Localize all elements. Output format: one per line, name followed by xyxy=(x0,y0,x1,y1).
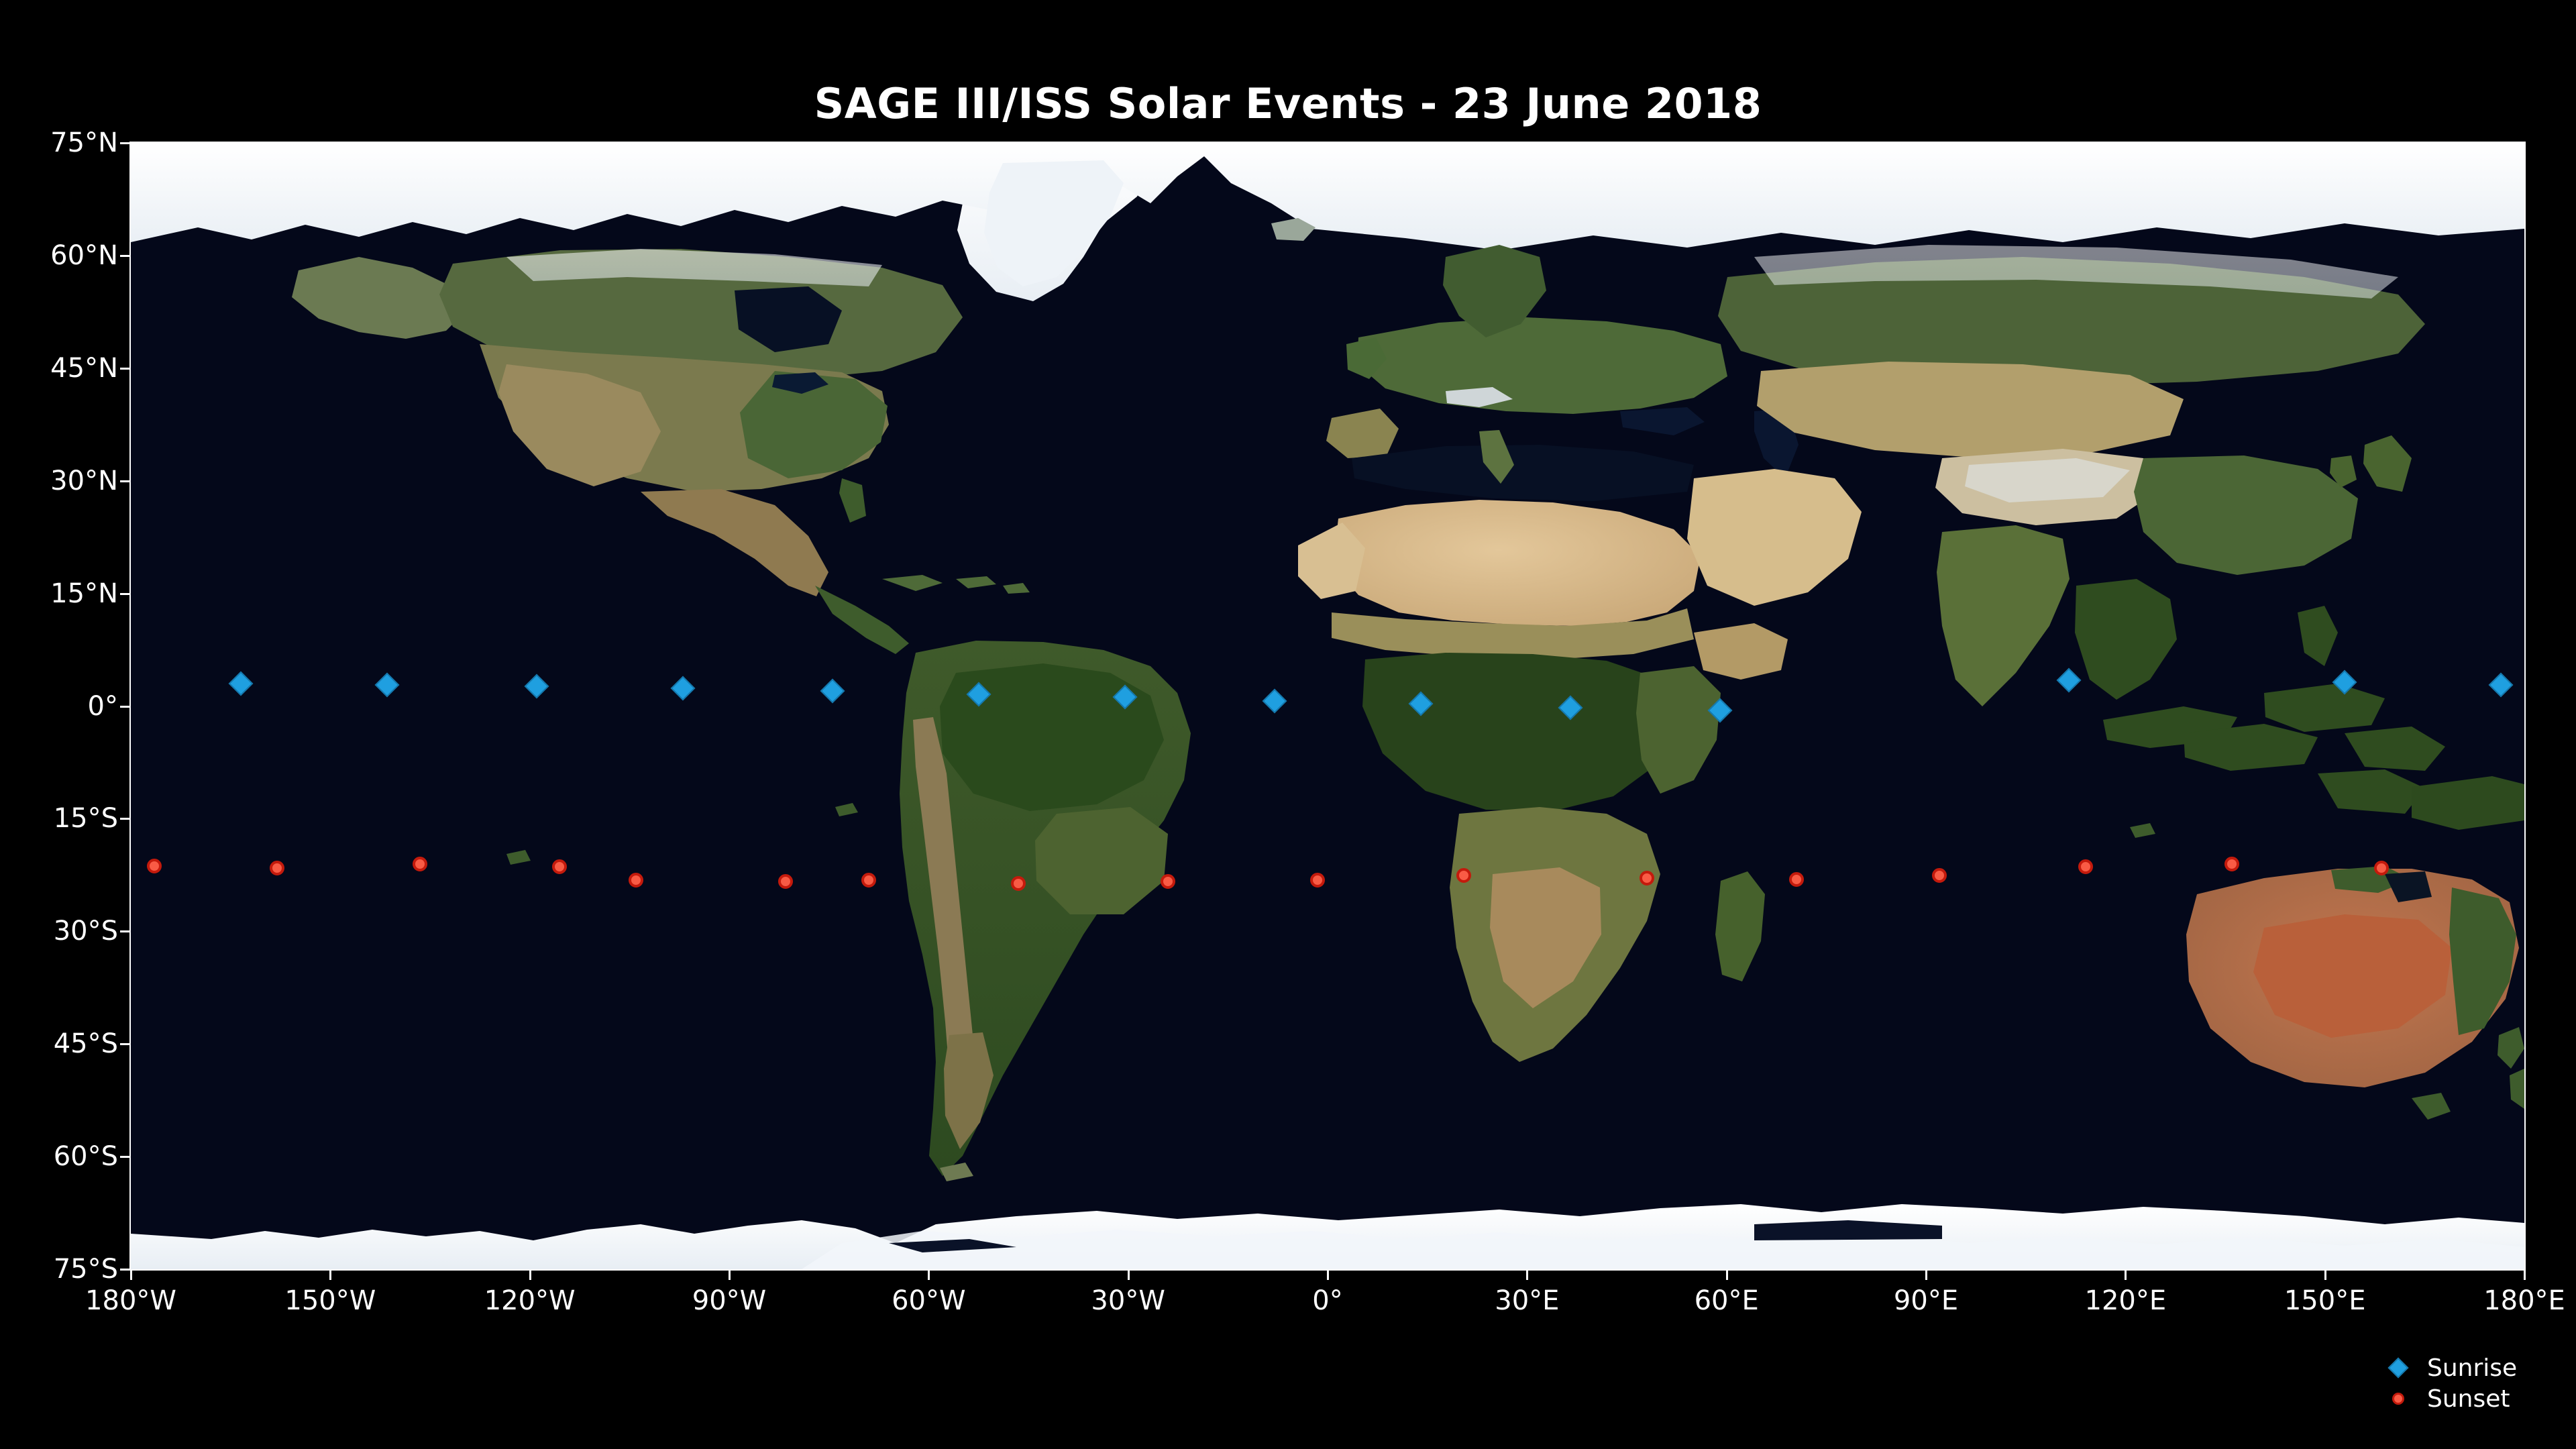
y-tick-label: 75°S xyxy=(54,1254,118,1285)
x-tick-label: 90°W xyxy=(692,1285,766,1316)
sunset-marker[interactable] xyxy=(1640,871,1654,885)
x-tick-mark xyxy=(130,1269,132,1280)
y-tick-mark xyxy=(120,480,131,482)
legend-label-sunrise: Sunrise xyxy=(2427,1354,2517,1382)
sunset-marker[interactable] xyxy=(1456,868,1471,883)
y-tick-mark xyxy=(120,1156,131,1158)
x-tick-label: 150°W xyxy=(284,1285,376,1316)
y-tick-label: 15°S xyxy=(54,803,118,834)
x-tick-mark xyxy=(729,1269,731,1280)
y-tick-label: 60°N xyxy=(50,240,118,271)
sunset-marker[interactable] xyxy=(552,859,567,874)
y-tick-label: 45°S xyxy=(54,1028,118,1059)
legend-label-sunset: Sunset xyxy=(2427,1385,2510,1413)
x-tick-mark xyxy=(1128,1269,1130,1280)
y-tick-label: 0° xyxy=(88,691,118,722)
x-tick-label: 60°W xyxy=(892,1285,965,1316)
x-tick-mark xyxy=(2125,1269,2127,1280)
y-tick-mark xyxy=(120,930,131,932)
page-title: SAGE III/ISS Solar Events - 23 June 2018 xyxy=(0,79,2576,128)
x-tick-label: 60°E xyxy=(1695,1285,1759,1316)
map-figure: SAGE III/ISS Solar Events - 23 June 2018 xyxy=(0,0,2576,1449)
sunset-marker[interactable] xyxy=(1011,876,1026,891)
legend-entry-sunrise: Sunrise xyxy=(2380,1352,2517,1383)
x-tick-label: 120°E xyxy=(2085,1285,2167,1316)
sunset-marker[interactable] xyxy=(2078,859,2093,874)
x-tick-mark xyxy=(529,1269,531,1280)
sunrise-diamond-icon xyxy=(2380,1360,2416,1375)
sunset-marker[interactable] xyxy=(861,873,876,888)
legend: Sunrise Sunset xyxy=(2380,1352,2517,1414)
x-tick-label: 150°E xyxy=(2284,1285,2366,1316)
sunset-marker[interactable] xyxy=(1932,868,1947,883)
x-tick-mark xyxy=(2324,1269,2326,1280)
x-tick-label: 30°W xyxy=(1091,1285,1165,1316)
sunset-marker[interactable] xyxy=(1310,873,1325,888)
x-tick-mark xyxy=(329,1269,331,1280)
x-tick-label: 180°E xyxy=(2483,1285,2565,1316)
y-tick-mark xyxy=(120,593,131,595)
sunset-marker[interactable] xyxy=(778,874,793,889)
sunset-marker[interactable] xyxy=(270,861,284,875)
world-basemap xyxy=(131,143,2524,1269)
y-tick-label: 75°N xyxy=(50,127,118,158)
y-tick-label: 60°S xyxy=(54,1141,118,1172)
x-tick-mark xyxy=(1526,1269,1528,1280)
y-tick-mark xyxy=(120,368,131,370)
y-tick-label: 15°N xyxy=(50,578,118,609)
sunset-marker[interactable] xyxy=(413,857,427,871)
y-tick-label: 30°N xyxy=(50,466,118,496)
sunset-marker[interactable] xyxy=(2374,861,2389,875)
y-tick-label: 45°N xyxy=(50,353,118,384)
x-tick-label: 0° xyxy=(1312,1285,1342,1316)
x-tick-mark xyxy=(1925,1269,1927,1280)
sunset-marker[interactable] xyxy=(629,873,643,888)
y-tick-mark xyxy=(120,706,131,708)
x-tick-mark xyxy=(1327,1269,1329,1280)
x-tick-mark xyxy=(928,1269,930,1280)
sunset-marker[interactable] xyxy=(1161,874,1175,889)
x-tick-label: 30°E xyxy=(1495,1285,1559,1316)
y-tick-mark xyxy=(120,1043,131,1045)
sunset-marker[interactable] xyxy=(1789,872,1804,887)
y-tick-mark xyxy=(120,1269,131,1271)
x-tick-label: 120°W xyxy=(484,1285,576,1316)
map-plot-area[interactable] xyxy=(131,143,2524,1269)
sunset-marker[interactable] xyxy=(2224,857,2239,871)
sunset-marker[interactable] xyxy=(147,859,162,873)
y-tick-mark xyxy=(120,142,131,144)
sunset-circle-icon xyxy=(2380,1393,2416,1405)
x-tick-label: 180°W xyxy=(85,1285,176,1316)
y-tick-label: 30°S xyxy=(54,916,118,947)
y-tick-mark xyxy=(120,255,131,257)
x-tick-mark xyxy=(2524,1269,2526,1280)
x-tick-mark xyxy=(1726,1269,1728,1280)
y-tick-mark xyxy=(120,818,131,820)
legend-entry-sunset: Sunset xyxy=(2380,1383,2517,1414)
x-tick-label: 90°E xyxy=(1894,1285,1958,1316)
